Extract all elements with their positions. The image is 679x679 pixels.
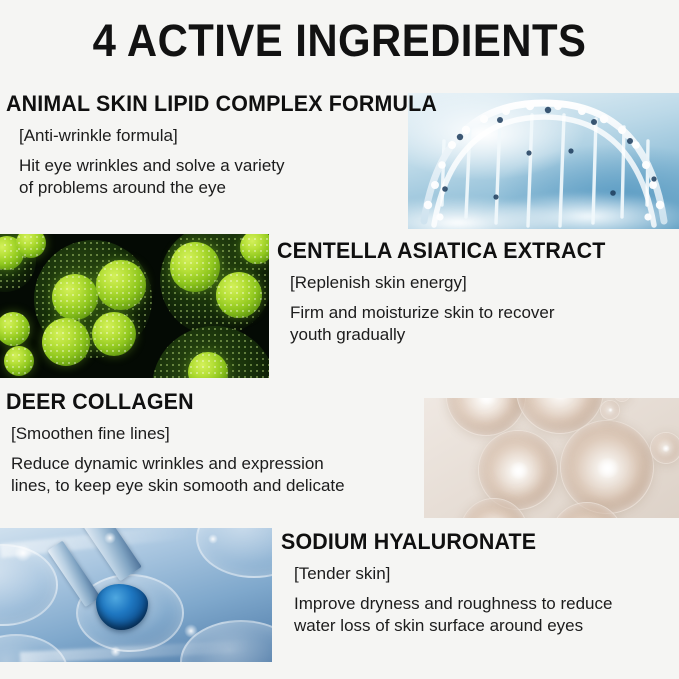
algae-cell-4 — [92, 312, 136, 356]
ingredient-description-1-line-1: Hit eye wrinkles and solve a variety — [19, 155, 406, 178]
algae-cell-5 — [170, 242, 220, 292]
bubble-highlight-3 — [184, 624, 198, 638]
ingredient-name-1: ANIMAL SKIN LIPID COMPLEX FORMULA — [6, 92, 386, 116]
ingredient-name-4: SODIUM HYALURONATE — [281, 530, 659, 554]
green-algae-cells-photo — [0, 234, 269, 378]
ingredient-block-4: SODIUM HYALURONATE [Tender skin] Improve… — [281, 530, 679, 638]
bubble-highlight-1 — [14, 544, 32, 562]
ingredient-description-4: Improve dryness and roughness to reduce … — [294, 593, 679, 638]
ingredient-description-1: Hit eye wrinkles and solve a variety of … — [19, 155, 406, 200]
dna-double-helix-photo — [408, 93, 679, 229]
ingredient-tagline-2: [Replenish skin energy] — [290, 272, 677, 293]
ingredient-block-3: DEER COLLAGEN [Smoothen fine lines] Redu… — [6, 390, 426, 498]
ingredient-tagline-3: [Smoothen fine lines] — [11, 423, 426, 444]
ingredient-description-3-line-1: Reduce dynamic wrinkles and expression — [11, 453, 426, 476]
ingredient-description-1-line-2: of problems around the eye — [19, 177, 406, 200]
bubble-highlight-4 — [110, 646, 121, 657]
algae-cell-6 — [216, 272, 262, 318]
ingredient-block-2: CENTELLA ASIATICA EXTRACT [Replenish ski… — [277, 239, 677, 347]
bubble-small-right — [650, 432, 679, 464]
ingredients-poster: 4 ACTIVE INGREDIENTS — [0, 0, 679, 679]
ingredient-description-2-line-2: youth gradually — [290, 324, 677, 347]
ingredient-description-2-line-1: Firm and moisturize skin to recover — [290, 302, 677, 325]
ingredient-description-3-line-2: lines, to keep eye skin somooth and deli… — [11, 475, 426, 498]
algae-cell-2 — [96, 260, 146, 310]
algae-cell-3 — [42, 318, 90, 366]
ingredient-description-2: Firm and moisturize skin to recover yout… — [290, 302, 677, 347]
dna-helix-icon — [408, 93, 679, 229]
algae-cell-1 — [52, 274, 98, 320]
ingredient-description-3: Reduce dynamic wrinkles and expression l… — [11, 453, 426, 498]
ingredient-name-3: DEER COLLAGEN — [6, 390, 405, 414]
ingredient-description-4-line-1: Improve dryness and roughness to reduce — [294, 593, 679, 616]
ingredient-tagline-1: [Anti-wrinkle formula] — [19, 125, 406, 146]
ingredient-description-4-line-2: water loss of skin surface around eyes — [294, 615, 679, 638]
bubble-highlight-5 — [208, 534, 218, 544]
bubble-tiny-right — [600, 400, 620, 420]
golden-bubbles-photo — [424, 398, 679, 518]
bubble-highlight-2 — [104, 532, 116, 544]
ingredient-block-1: ANIMAL SKIN LIPID COMPLEX FORMULA [Anti-… — [6, 92, 406, 200]
ingredient-tagline-4: [Tender skin] — [294, 563, 679, 584]
pipette-blue-droplet-photo — [0, 528, 272, 662]
ingredient-name-2: CENTELLA ASIATICA EXTRACT — [277, 239, 657, 263]
page-title: 4 ACTIVE INGREDIENTS — [24, 18, 655, 63]
algae-cell-10 — [4, 346, 34, 376]
bubble-mid-right — [560, 420, 654, 514]
